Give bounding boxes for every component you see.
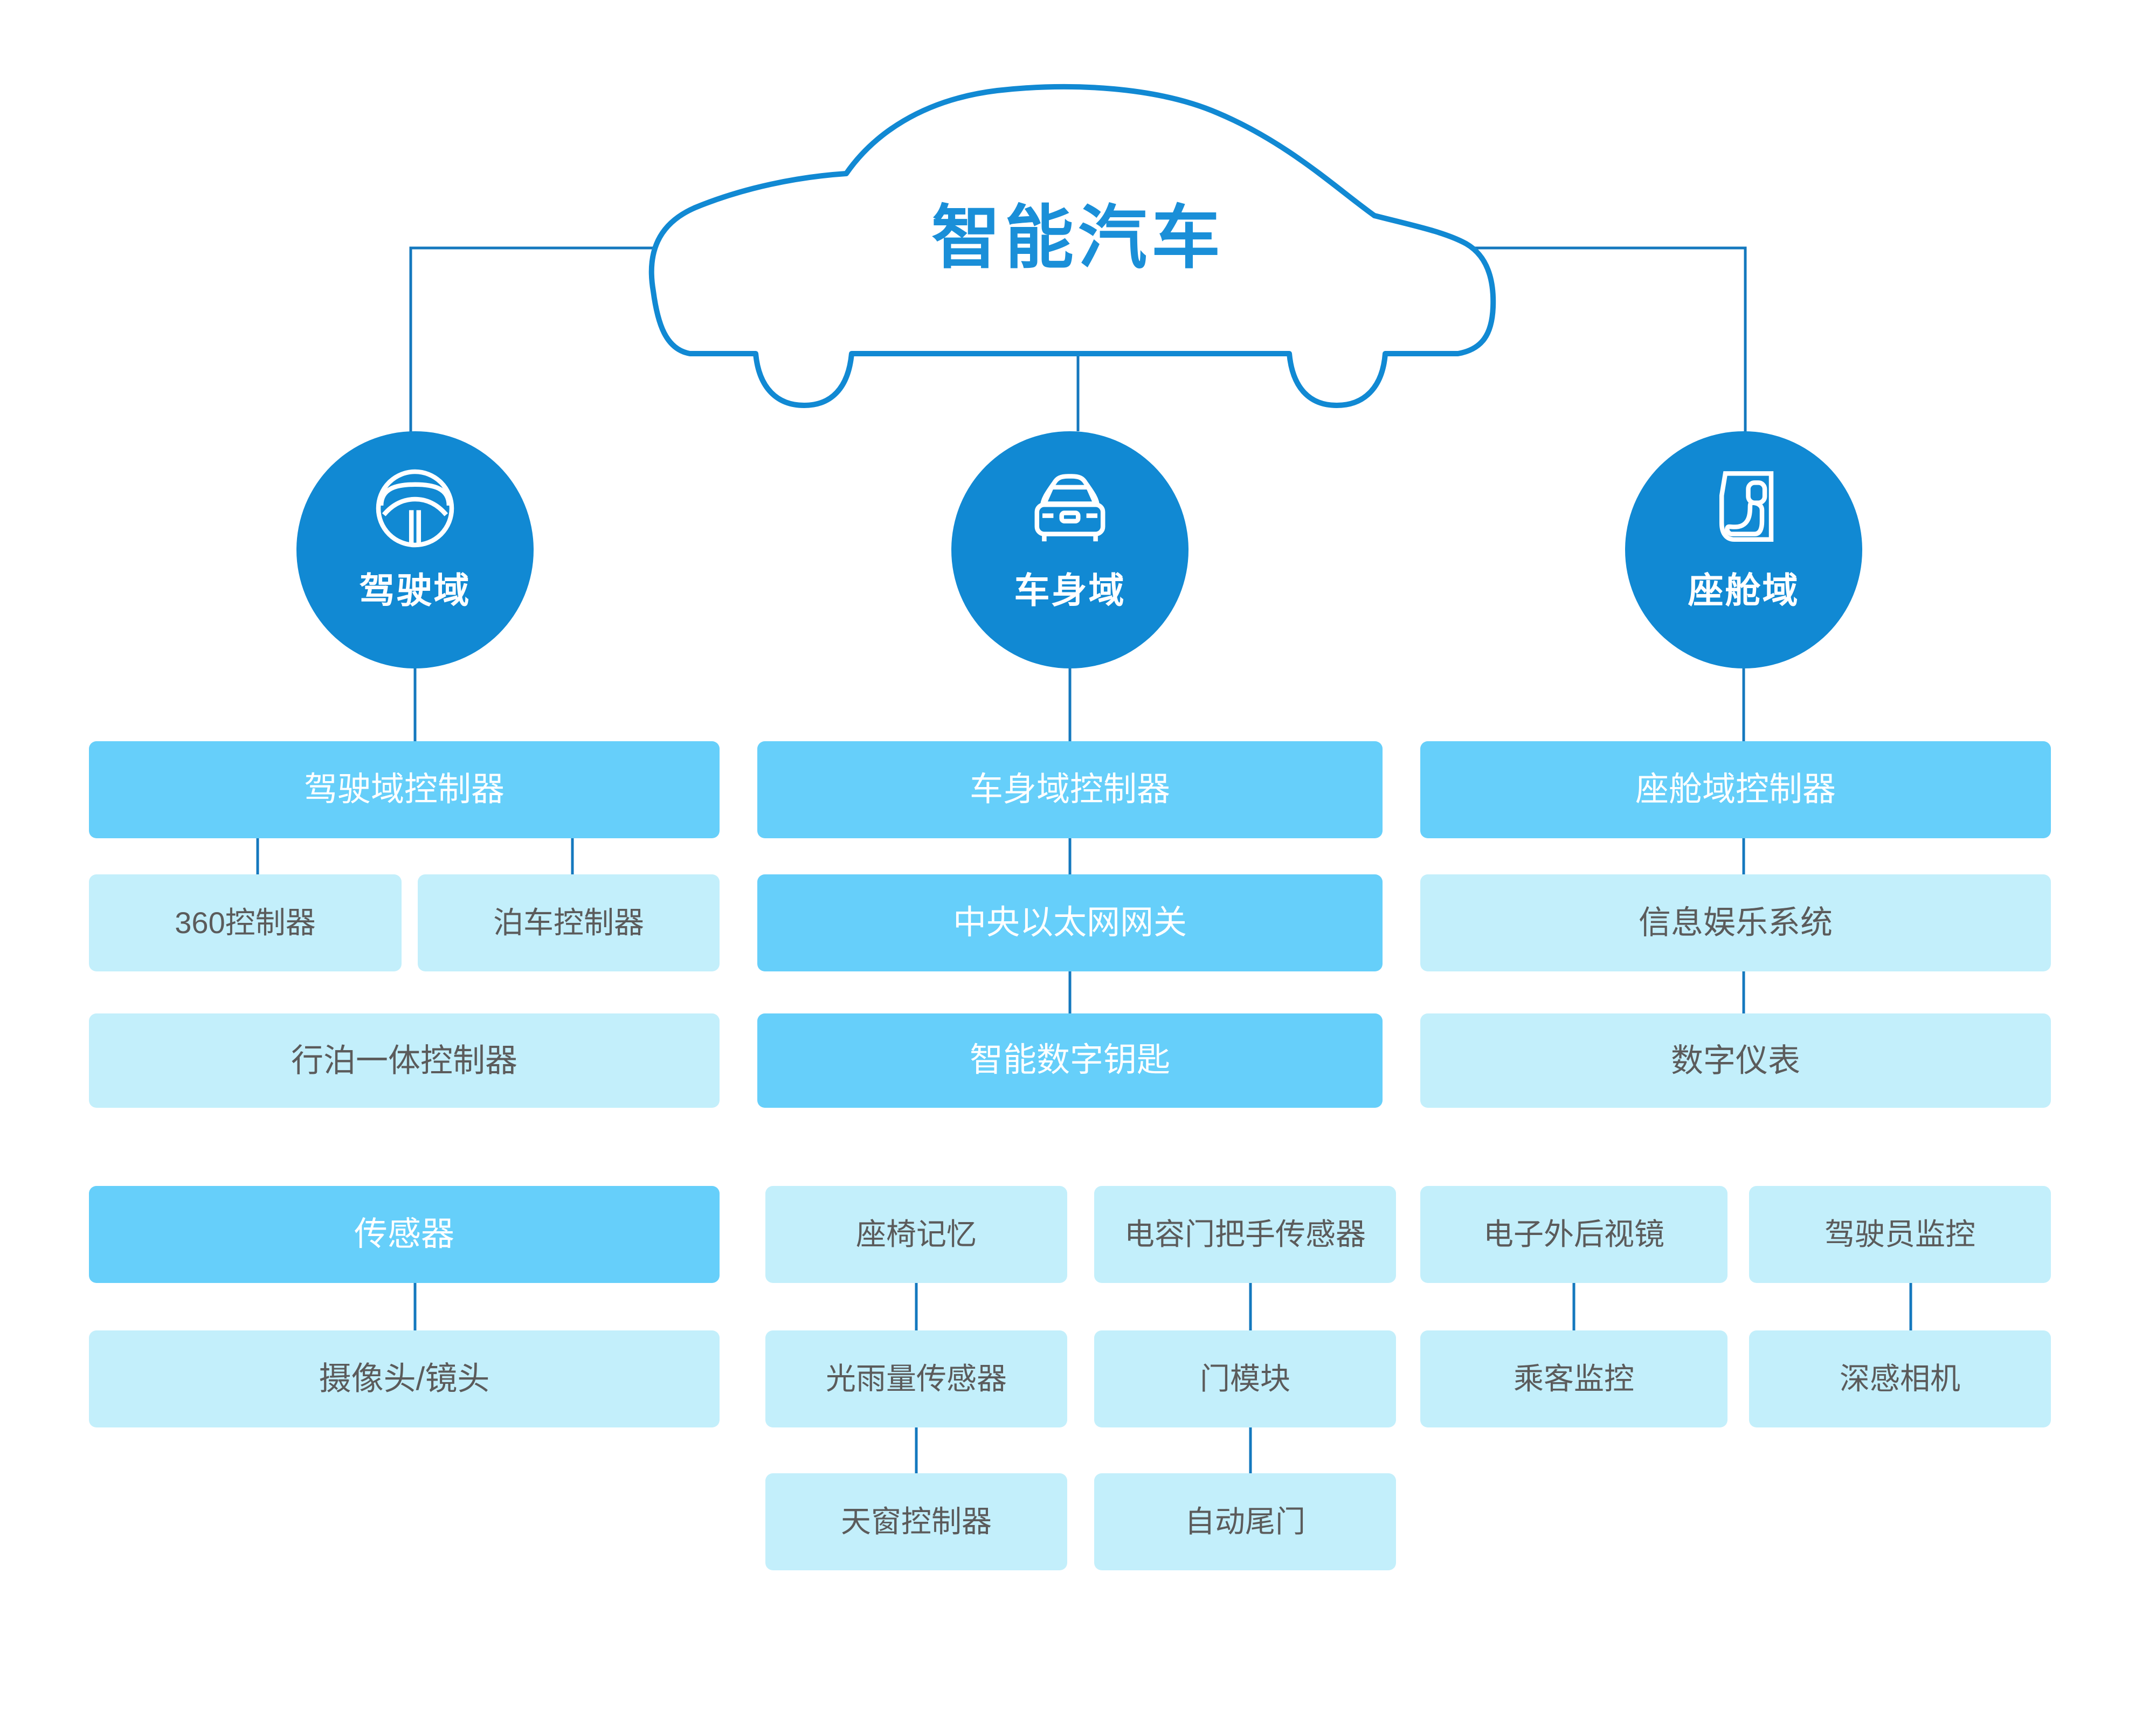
box-capacitive-door-handle-sensor[interactable]: 电容门把手传感器 xyxy=(1094,1186,1396,1283)
domain-node-drive[interactable]: 驾驶域 xyxy=(296,431,534,668)
page-title: 智能汽车 xyxy=(620,204,1536,273)
domain-node-label: 驾驶域 xyxy=(360,562,471,613)
box-light-rain-sensor[interactable]: 光雨量传感器 xyxy=(765,1330,1067,1427)
box-seat-memory[interactable]: 座椅记忆 xyxy=(765,1186,1067,1283)
domain-node-label: 车身域 xyxy=(1014,562,1126,613)
box-depth-camera[interactable]: 深感相机 xyxy=(1749,1330,2051,1427)
box-drive-controller[interactable]: 驾驶域控制器 xyxy=(89,741,720,838)
box-digital-cluster[interactable]: 数字仪表 xyxy=(1420,1013,2051,1108)
box-sensor-group[interactable]: 传感器 xyxy=(89,1186,720,1283)
domain-node-cabin[interactable]: 座舱域 xyxy=(1625,431,1862,668)
domain-node-body[interactable]: 车身域 xyxy=(951,431,1188,668)
domain-node-label: 座舱域 xyxy=(1688,562,1800,613)
box-power-tailgate[interactable]: 自动尾门 xyxy=(1094,1473,1396,1570)
box-sunroof-controller[interactable]: 天窗控制器 xyxy=(765,1473,1067,1570)
box-camera-lens[interactable]: 摄像头/镜头 xyxy=(89,1330,720,1427)
box-driver-monitoring[interactable]: 驾驶员监控 xyxy=(1749,1186,2051,1283)
box-360-controller[interactable]: 360控制器 xyxy=(89,874,402,971)
steering-wheel-icon xyxy=(369,463,461,554)
car-seat-icon xyxy=(1698,463,1789,554)
box-parking-controller[interactable]: 泊车控制器 xyxy=(418,874,720,971)
car-front-icon xyxy=(1024,463,1116,554)
box-integrated-driving-parking-controller[interactable]: 行泊一体控制器 xyxy=(89,1013,720,1108)
box-smart-digital-key[interactable]: 智能数字钥匙 xyxy=(757,1013,1383,1108)
box-door-module[interactable]: 门模块 xyxy=(1094,1330,1396,1427)
box-infotainment-system[interactable]: 信息娱乐系统 xyxy=(1420,874,2051,971)
box-cabin-controller[interactable]: 座舱域控制器 xyxy=(1420,741,2051,838)
box-electronic-exterior-mirror[interactable]: 电子外后视镜 xyxy=(1420,1186,1727,1283)
diagram-canvas: 智能汽车 驾驶域 车身域 座舱域 驾驶域控制器 xyxy=(0,0,2156,1711)
box-body-controller[interactable]: 车身域控制器 xyxy=(757,741,1383,838)
box-central-ethernet-gateway[interactable]: 中央以太网网关 xyxy=(757,874,1383,971)
box-passenger-monitoring[interactable]: 乘客监控 xyxy=(1420,1330,1727,1427)
car-hero: 智能汽车 xyxy=(620,54,1536,410)
